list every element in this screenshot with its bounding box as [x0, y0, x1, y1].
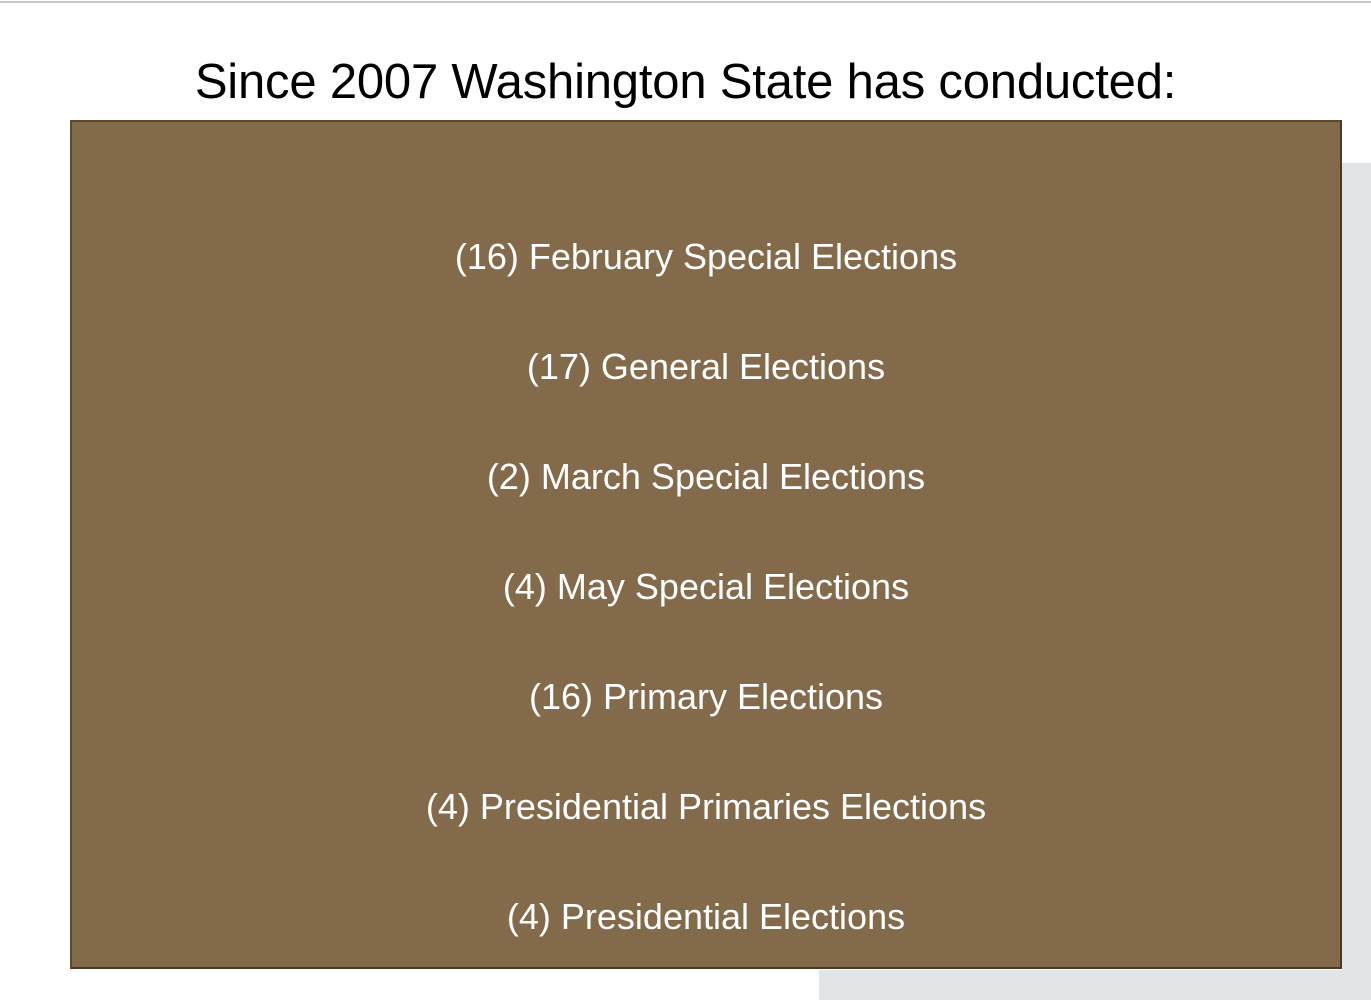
slide-canvas: Since 2007 Washington State has conducte…: [0, 0, 1371, 1000]
list-item: (4) Presidential Elections: [72, 895, 1340, 1000]
top-divider-rule: [0, 1, 1371, 3]
list-item: (2) March Special Elections: [72, 455, 1340, 565]
list-item: (4) May Special Elections: [72, 565, 1340, 675]
list-item: (17) General Elections: [72, 345, 1340, 455]
election-list: (16) February Special Elections (17) Gen…: [72, 235, 1340, 1000]
list-item: (16) Primary Elections: [72, 675, 1340, 785]
election-summary-box: (16) February Special Elections (17) Gen…: [70, 120, 1342, 969]
list-item: (16) February Special Elections: [72, 235, 1340, 345]
background-panel-right: [1342, 163, 1371, 971]
list-item: (4) Presidential Primaries Elections: [72, 785, 1340, 895]
page-title: Since 2007 Washington State has conducte…: [0, 52, 1371, 112]
